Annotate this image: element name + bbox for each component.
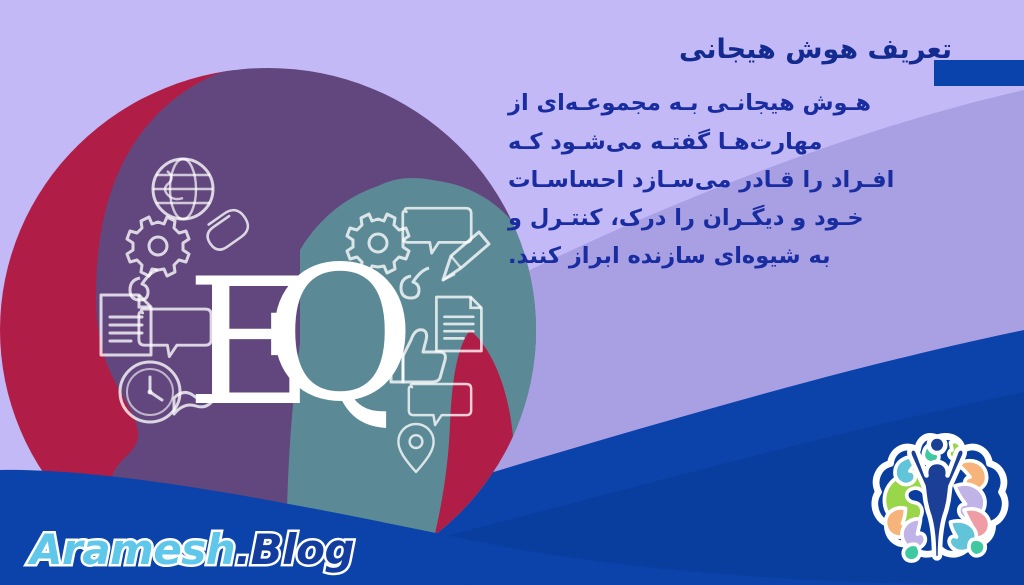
body-line: به شیوه‌ای سازنده ابراز کنند. [508, 237, 964, 275]
watermark-brand: Aramesh [30, 525, 235, 574]
body-paragraph: هـوش هیجانـی بـه مجموعـه‌ای از مهارت‌هـا… [508, 84, 964, 275]
body-line: هـوش هیجانـی بـه مجموعـه‌ای از [508, 84, 964, 122]
text-column: تعریف هوش هیجانی هـوش هیجانـی بـه مجموعـ… [508, 34, 964, 276]
watermark-suffix: .Blog [235, 525, 354, 574]
body-line: مهارت‌هـا گفتـه می‌شـود کـه [508, 123, 964, 161]
aramesh-brain-tree-logo [862, 420, 1012, 570]
site-watermark: Aramesh.Blog [30, 529, 354, 571]
body-line: خـود و دیگـران را درک، کنتـرل و [508, 199, 964, 237]
page-title: تعریف هوش هیجانی [508, 34, 964, 66]
title-accent-bar [934, 60, 1024, 86]
body-line: افـراد را قـادر می‌سـازد احساسـات [508, 161, 964, 199]
poster-canvas: E Q تعریف هوش هیجانی هـوش هیجانـی بـه مج… [0, 0, 1024, 585]
